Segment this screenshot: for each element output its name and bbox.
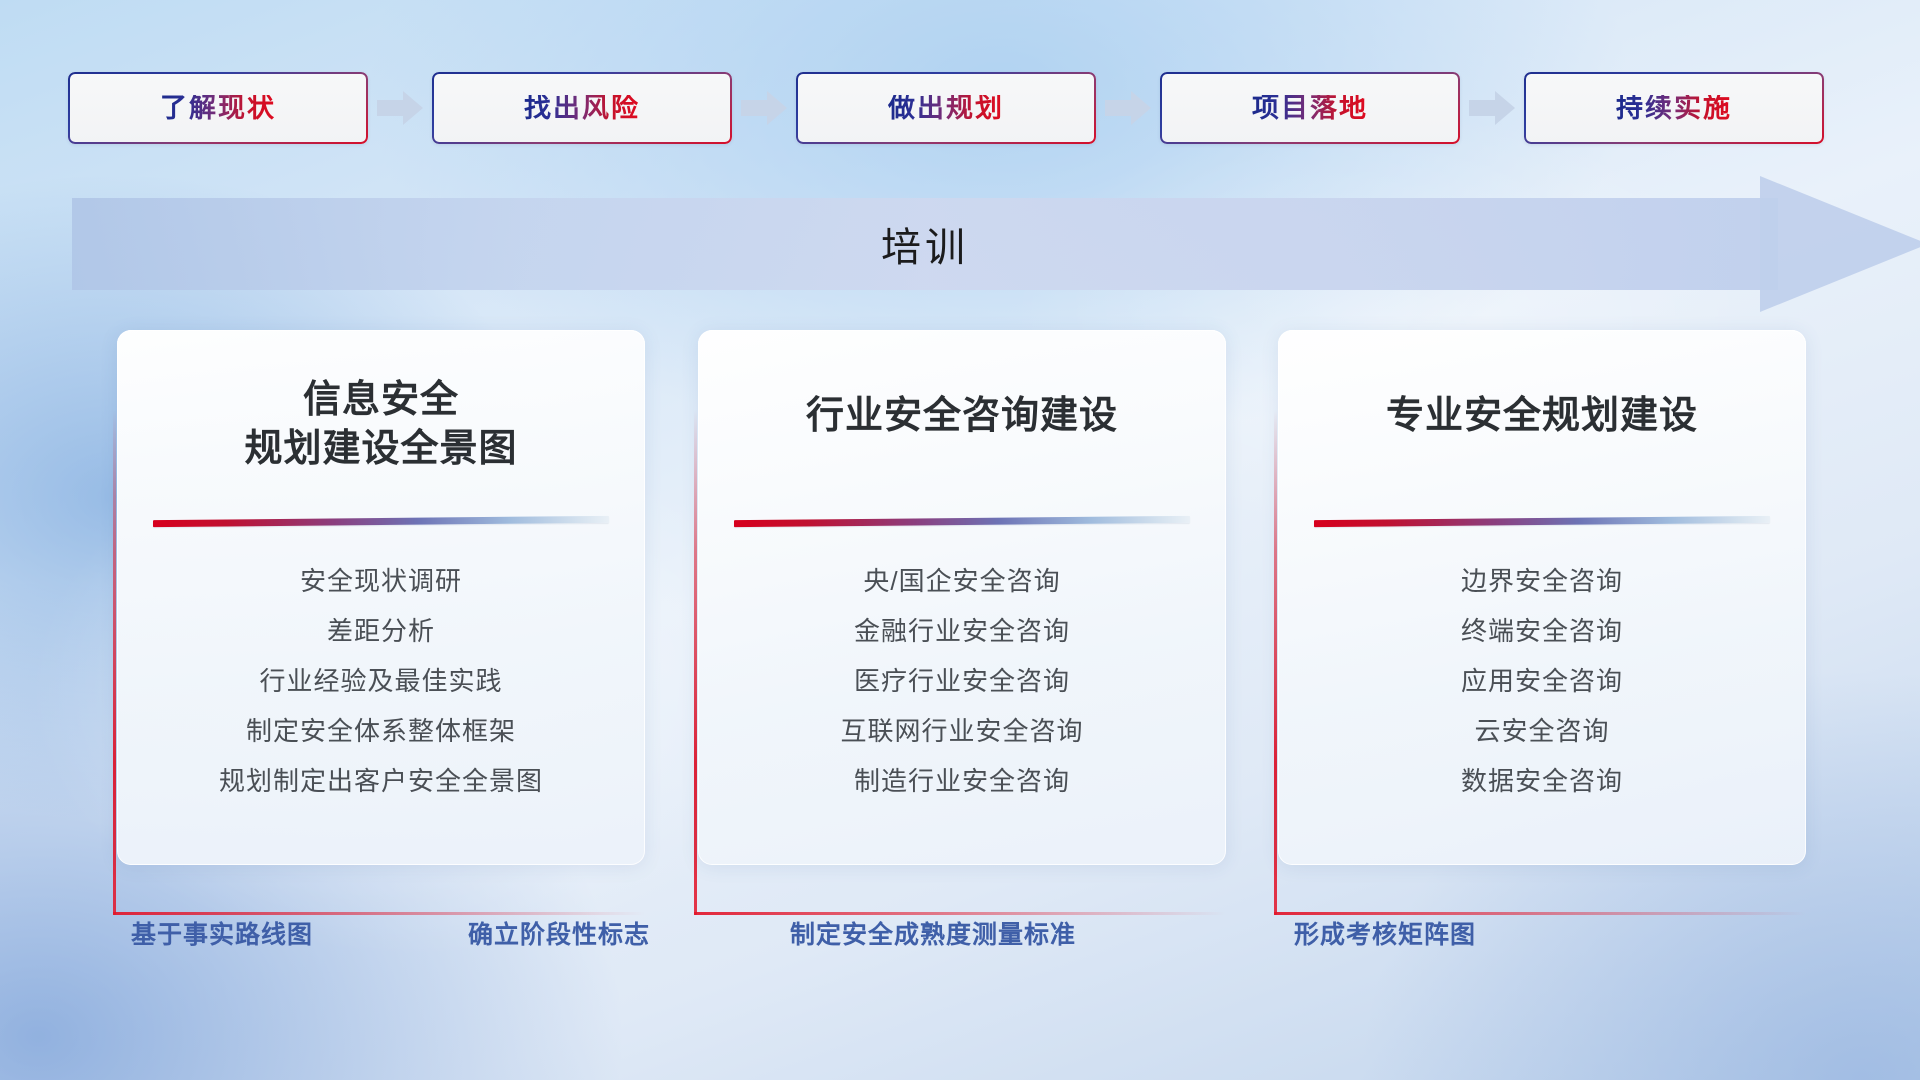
step-box-3[interactable]: 做出规划 [796,72,1096,144]
card-title: 行业安全咨询建设 [698,392,1226,441]
list-item: 金融行业安全咨询 [698,618,1226,644]
card-item-list: 安全现状调研 差距分析 行业经验及最佳实践 制定安全体系整体框架 规划制定出客户… [117,568,645,794]
bottom-label: 基于事实路线图 [131,910,313,960]
card-divider [1314,516,1770,527]
list-item: 央/国企安全咨询 [698,568,1226,594]
card-wrapper-1: 信息安全 规划建设全景图 安全现状调研 差距分析 行业经验及最佳实践 制定安全体… [113,330,645,875]
list-item: 医疗行业安全咨询 [698,668,1226,694]
card-divider [734,516,1190,527]
card-accent-left [694,410,697,915]
list-item: 终端安全咨询 [1278,618,1806,644]
card-2[interactable]: 行业安全咨询建设 央/国企安全咨询 金融行业安全咨询 医疗行业安全咨询 互联网行… [698,330,1226,865]
card-accent-left [1274,410,1277,915]
card-title: 专业安全规划建设 [1278,392,1806,441]
step-box-2[interactable]: 找出风险 [432,72,732,144]
training-banner-arrowhead [1760,176,1920,312]
step-label: 找出风险 [524,95,640,122]
card-3[interactable]: 专业安全规划建设 边界安全咨询 终端安全咨询 应用安全咨询 云安全咨询 数据安全… [1278,330,1806,865]
step-label: 项目落地 [1252,95,1368,122]
list-item: 云安全咨询 [1278,718,1806,744]
bottom-label: 确立阶段性标志 [468,910,650,960]
list-item: 制定安全体系整体框架 [117,718,645,744]
step-label: 做出规划 [888,95,1004,122]
step-box-1[interactable]: 了解现状 [68,72,368,144]
card-1[interactable]: 信息安全 规划建设全景图 安全现状调研 差距分析 行业经验及最佳实践 制定安全体… [117,330,645,865]
list-item: 规划制定出客户安全全景图 [117,768,645,794]
list-item: 边界安全咨询 [1278,568,1806,594]
card-row: 信息安全 规划建设全景图 安全现状调研 差距分析 行业经验及最佳实践 制定安全体… [0,330,1920,875]
slide-canvas: 了解现状 找出风险 做出规划 项目落地 [0,0,1920,1080]
list-item: 数据安全咨询 [1278,768,1806,794]
list-item: 差距分析 [117,618,645,644]
card-item-list: 边界安全咨询 终端安全咨询 应用安全咨询 云安全咨询 数据安全咨询 [1278,568,1806,794]
card-item-list: 央/国企安全咨询 金融行业安全咨询 医疗行业安全咨询 互联网行业安全咨询 制造行… [698,568,1226,794]
step-label: 了解现状 [160,95,276,122]
arrow-right-icon [1096,72,1160,144]
step-box-5[interactable]: 持续实施 [1524,72,1824,144]
list-item: 应用安全咨询 [1278,668,1806,694]
step-box-4[interactable]: 项目落地 [1160,72,1460,144]
step-label: 持续实施 [1616,95,1732,122]
list-item: 行业经验及最佳实践 [117,668,645,694]
list-item: 制造行业安全咨询 [698,768,1226,794]
process-step-row: 了解现状 找出风险 做出规划 项目落地 [68,72,1856,144]
card-wrapper-3: 专业安全规划建设 边界安全咨询 终端安全咨询 应用安全咨询 云安全咨询 数据安全… [1274,330,1806,875]
arrow-right-icon [368,72,432,144]
bottom-label-row: 基于事实路线图 确立阶段性标志 制定安全成熟度测量标准 形成考核矩阵图 [0,910,1920,960]
bottom-label: 制定安全成熟度测量标准 [790,910,1076,960]
card-accent-left [113,410,116,915]
bottom-label: 形成考核矩阵图 [1294,910,1476,960]
training-banner: 培训 [72,198,1858,290]
card-divider [153,516,609,527]
arrow-right-icon [1460,72,1524,144]
list-item: 互联网行业安全咨询 [698,718,1226,744]
card-wrapper-2: 行业安全咨询建设 央/国企安全咨询 金融行业安全咨询 医疗行业安全咨询 互联网行… [694,330,1226,875]
training-banner-label: 培训 [72,198,1778,290]
arrow-right-icon [732,72,796,144]
list-item: 安全现状调研 [117,568,645,594]
card-title: 信息安全 规划建设全景图 [117,376,645,473]
